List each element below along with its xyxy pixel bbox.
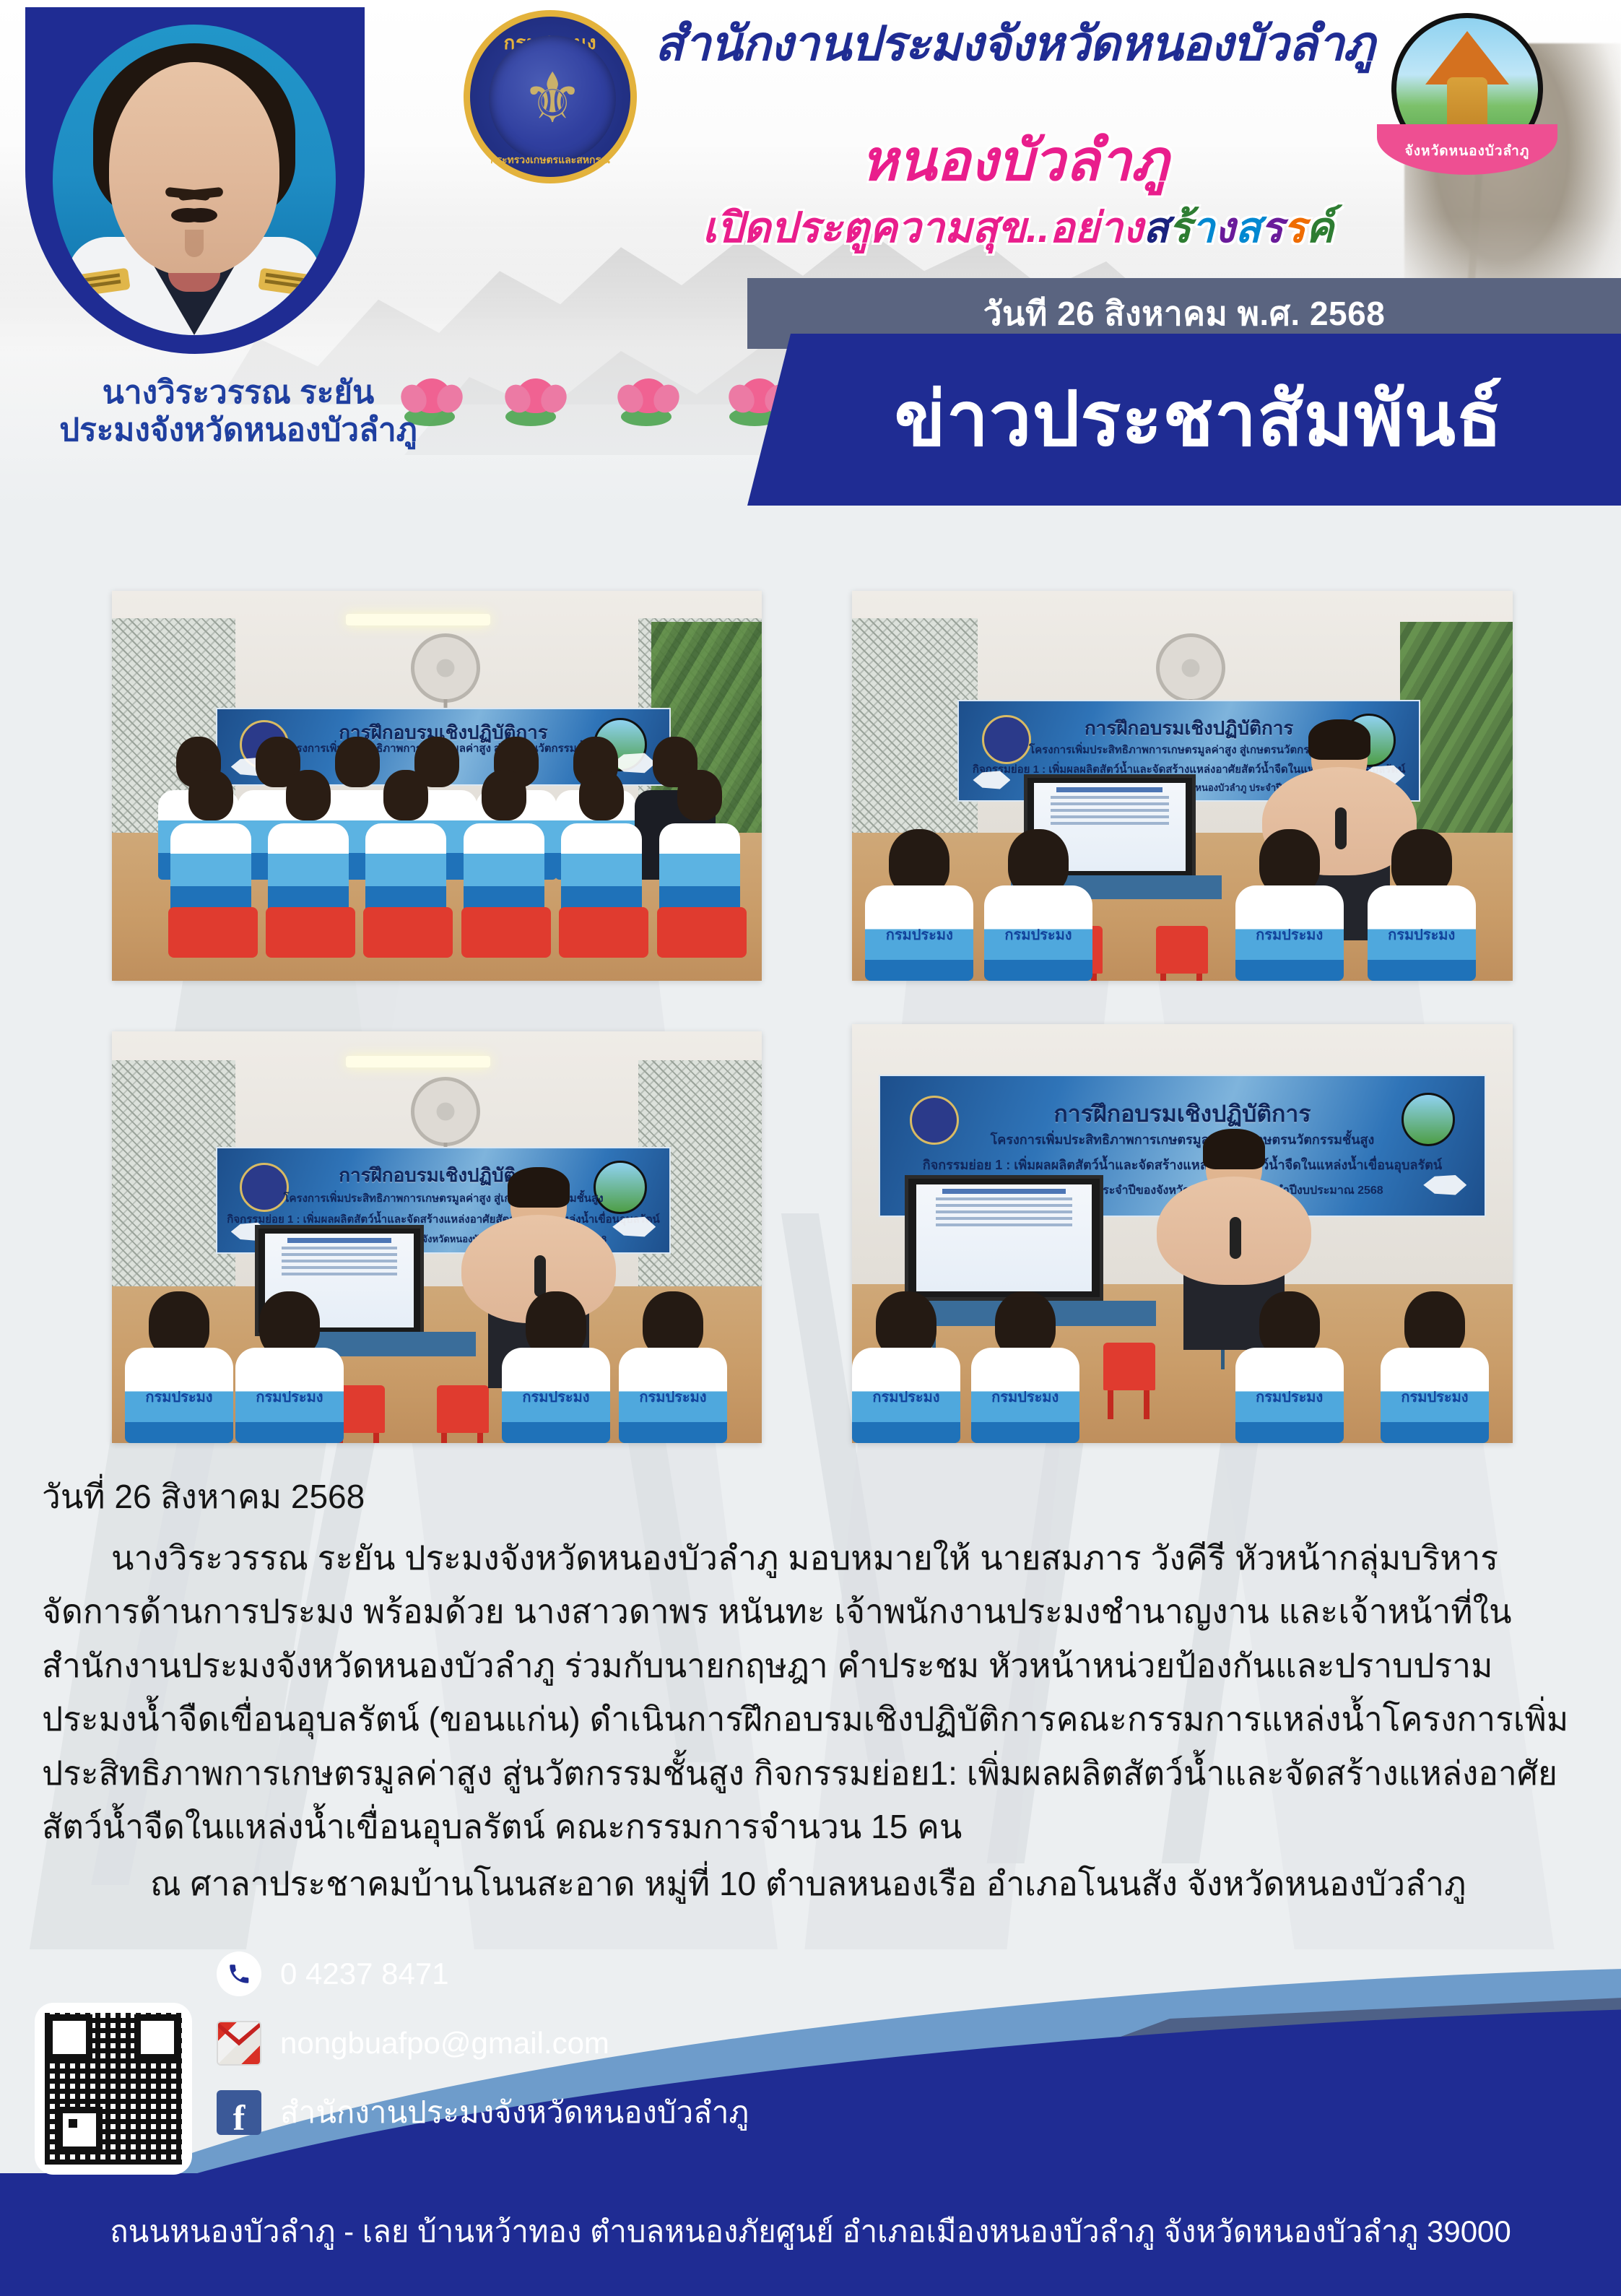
photo-audience-watching[interactable]: การฝึกอบรมเชิงปฏิบัติการ โครงการเพิ่มประ… — [112, 1031, 762, 1443]
contact-email-row[interactable]: nongbuafpo@gmail.com — [217, 2016, 939, 2071]
qr-finder-bottom-left — [56, 2107, 103, 2153]
poster-body: การฝึกอบรมเชิงปฏิบัติการ โครงการเพิ่มประ… — [0, 506, 1621, 1993]
photo-scene: การฝึกอบรมเชิงปฏิบัติการ โครงการเพิ่มประ… — [852, 1024, 1513, 1443]
officer-position-text: ประมงจังหวัดหนองบัวลำภู — [0, 412, 477, 449]
audience-row — [852, 1301, 1513, 1443]
red-chair — [168, 907, 258, 958]
office-address: ถนนหนองบัวลำภู - เลย บ้านหว้าทอง ตำบลหนอ… — [0, 2208, 1621, 2256]
seal-fisheries-inner: ⚜ — [489, 35, 616, 163]
person-head — [383, 770, 428, 820]
portrait-face — [109, 62, 279, 276]
audience-row — [112, 1303, 762, 1443]
office-title: สำนักงานประมงจังหวัดหนองบัวลำภู — [653, 6, 1376, 82]
province-seal-ribbon-text: จังหวัดหนองบัวลำภู — [1405, 140, 1530, 175]
eye-right — [171, 208, 204, 222]
facebook-page-name: สำนักงานประมงจังหวัดหนองบัวลำภู — [280, 2089, 749, 2136]
person-shirt — [971, 1348, 1079, 1443]
person-shirt — [235, 1348, 344, 1443]
main-title-banner: ข่าวประชาสัมพันธ์ — [747, 334, 1621, 506]
phone-number: 0 4237 8471 — [280, 1957, 449, 1991]
person-shirt — [852, 1348, 960, 1443]
person-shirt — [865, 885, 973, 981]
contact-phone-row[interactable]: 0 4237 8471 — [217, 1949, 939, 2001]
photo-scene: การฝึกอบรมเชิงปฏิบัติการ โครงการเพิ่มประ… — [112, 591, 762, 981]
qr-code-matrix — [45, 2013, 182, 2165]
wall-fan-icon — [411, 1077, 480, 1146]
person-shirt — [502, 1348, 610, 1443]
banner-title: การฝึกอบรมเชิงปฏิบัติการ — [217, 1161, 669, 1190]
caption-date: วันที่ 26 สิงหาคม 2568 — [42, 1470, 1580, 1524]
slogan-segment: ร้ — [1169, 204, 1191, 251]
wall-fan-icon — [1156, 633, 1225, 703]
portrait-oval-frame — [53, 25, 336, 335]
red-chair — [266, 907, 355, 958]
slogan-segment: ร — [1261, 204, 1283, 251]
contact-block: 0 4237 8471 nongbuafpo@gmail.com f สำนัก… — [217, 1949, 939, 2154]
person-head — [482, 770, 526, 820]
person-shirt — [365, 823, 446, 913]
red-chair — [559, 907, 648, 958]
fluorescent-light — [346, 614, 490, 625]
photo-trainer-presenting-2[interactable]: การฝึกอบรมเชิงปฏิบัติการ โครงการเพิ่มประ… — [852, 1024, 1513, 1443]
officer-name-block: นางวิระวรรณ ระยัน ประมงจังหวัดหนองบัวลำภ… — [0, 374, 477, 449]
slogan-segment: ง — [1214, 204, 1235, 251]
slogan-segment: ส — [1143, 204, 1168, 251]
nose — [185, 230, 204, 257]
person-shirt — [619, 1348, 727, 1443]
person-head — [188, 770, 233, 820]
slogan-segment: า — [1191, 204, 1215, 251]
speaker-hair — [1203, 1129, 1265, 1169]
fluorescent-light — [346, 1056, 490, 1067]
slide-content — [916, 1184, 1092, 1291]
speaker-hair — [1308, 719, 1370, 760]
officer-portrait — [25, 7, 365, 354]
wall-fan-icon — [411, 633, 480, 703]
poster-footer: 0 4237 8471 nongbuafpo@gmail.com f สำนัก… — [0, 1949, 1621, 2296]
microphone-icon — [1230, 1217, 1241, 1259]
photo-trainer-presenting-1[interactable]: การฝึกอบรมเชิงปฏิบัติการ โครงการเพิ่มประ… — [852, 591, 1513, 981]
seal-fisheries-bottom-text: กระทรวงเกษตรและสหกรณ์ — [470, 152, 630, 168]
person-shirt — [1235, 1348, 1344, 1443]
nong-bua-lam-phu-province-seal-icon: จังหวัดหนองบัวลำภู — [1377, 13, 1557, 194]
person-shirt — [464, 823, 544, 913]
person-head — [579, 770, 624, 820]
banner-title: การฝึกอบรมเชิงปฏิบัติการ — [880, 1096, 1485, 1132]
poster-header: นางวิระวรรณ ระยัน ประมงจังหวัดหนองบัวลำภ… — [0, 0, 1621, 506]
province-seal-ribbon: จังหวัดหนองบัวลำภู — [1377, 124, 1557, 175]
garuda-emblem-icon: ⚜ — [521, 64, 583, 134]
presentation-screen — [905, 1175, 1103, 1301]
news-caption: วันที่ 26 สิงหาคม 2568 นางวิระวรรณ ระยัน… — [42, 1470, 1580, 1910]
person-shirt — [170, 823, 251, 913]
caption-venue: ณ ศาลาประชาคมบ้านโนนสะอาด หมู่ที่ 10 ตำบ… — [42, 1857, 1580, 1911]
person-head — [286, 770, 331, 820]
gmail-icon — [217, 2021, 261, 2066]
person-shirt — [268, 823, 349, 913]
officer-name-text: นางวิระวรรณ ระยัน — [0, 374, 477, 412]
photo-grid: การฝึกอบรมเชิงปฏิบัติการ โครงการเพิ่มประ… — [112, 591, 1513, 1443]
red-chair — [461, 907, 551, 958]
audience-row — [852, 848, 1513, 981]
person-shirt — [659, 823, 740, 913]
email-address: nongbuafpo@gmail.com — [280, 2026, 609, 2061]
contact-facebook-row[interactable]: f สำนักงานประมงจังหวัดหนองบัวลำภู — [217, 2085, 939, 2140]
person-shirt — [561, 823, 642, 913]
slogan-segment: เปิดประตูความสุข..อย่าง — [703, 204, 1143, 251]
photo-group-portrait[interactable]: การฝึกอบรมเชิงปฏิบัติการ โครงการเพิ่มประ… — [112, 591, 762, 981]
person-shirt — [1235, 885, 1344, 981]
person-shirt — [125, 1348, 233, 1443]
province-slogan-line2: เปิดประตูความสุข..อย่างสร้างสรรค์ — [621, 194, 1415, 261]
date-badge-text: วันที 26 สิงหาคม พ.ศ. 2568 — [983, 287, 1386, 340]
facebook-icon: f — [217, 2090, 261, 2135]
person-shirt — [1381, 1348, 1489, 1443]
slogan-segment: ค์ — [1305, 204, 1334, 251]
photo-scene: การฝึกอบรมเชิงปฏิบัติการ โครงการเพิ่มประ… — [852, 591, 1513, 981]
speaker-hair — [508, 1167, 570, 1208]
slogan-segment: ส — [1235, 204, 1261, 251]
department-of-fisheries-seal-icon: กรมประมง ⚜ กระทรวงเกษตรและสหกรณ์ — [464, 10, 637, 183]
caption-paragraph: นางวิระวรรณ ระยัน ประมงจังหวัดหนองบัวลำภ… — [42, 1531, 1580, 1854]
phone-icon — [217, 1951, 261, 1996]
main-title-text: ข่าวประชาสัมพันธ์ — [895, 382, 1503, 457]
photo-scene: การฝึกอบรมเชิงปฏิบัติการ โครงการเพิ่มประ… — [112, 1031, 762, 1443]
person-head — [677, 770, 722, 820]
province-slogan-line1: หนองบัวลำภู — [653, 116, 1376, 205]
banner-subtitle: โครงการเพิ่มประสิทธิภาพการเกษตรมูลค่าสูง… — [217, 1190, 669, 1207]
qr-code[interactable] — [35, 2003, 192, 2175]
slogan-segment: ร — [1283, 204, 1305, 251]
person-shirt — [984, 885, 1092, 981]
person-shirt — [1368, 885, 1476, 981]
red-chair — [363, 907, 453, 958]
red-chair — [657, 907, 747, 958]
